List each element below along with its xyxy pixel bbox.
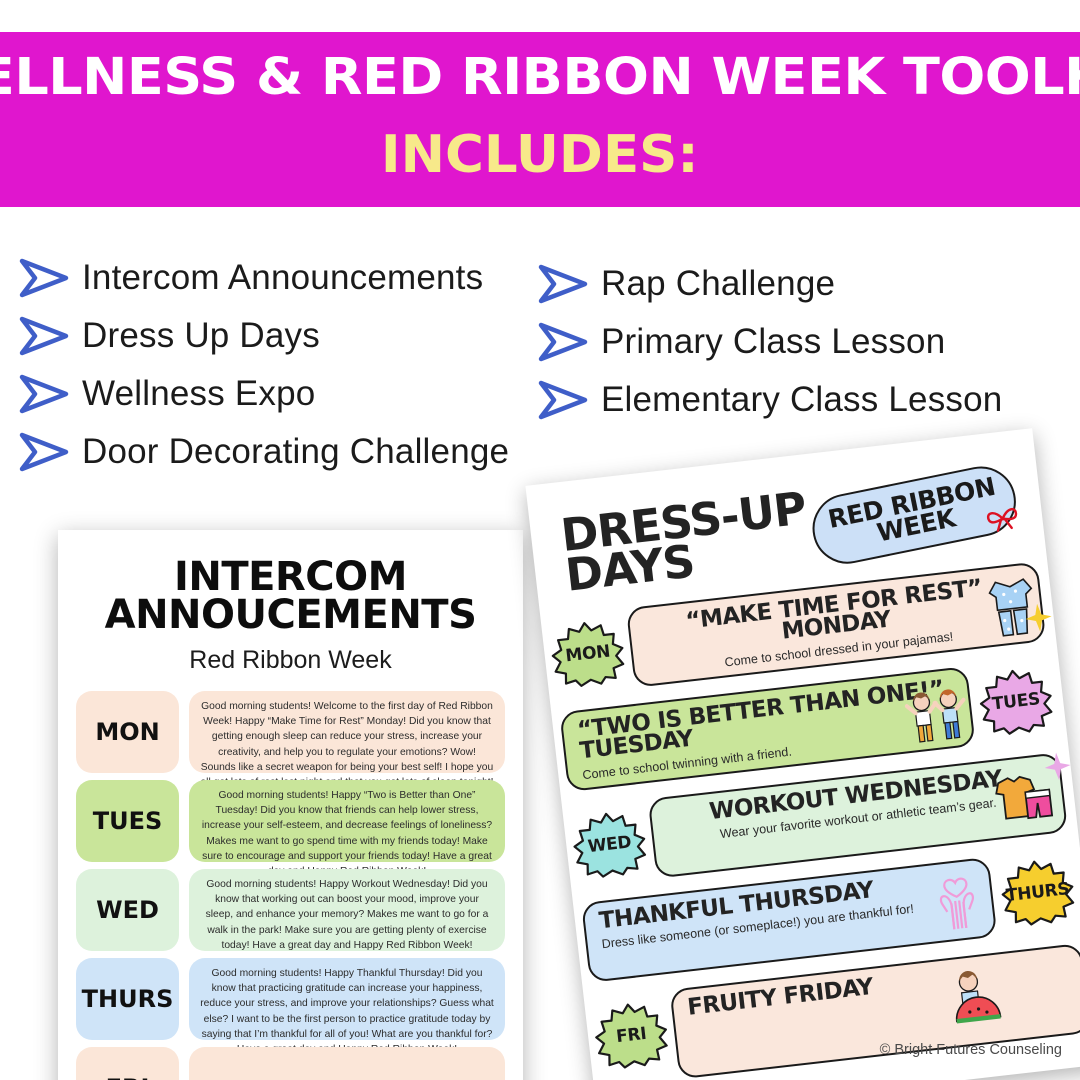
table-row: TUES Good morning students! Happy “Two i… <box>76 780 505 862</box>
red-ribbon-week-badge-label: RED RIBBON WEEK <box>827 475 1002 554</box>
day-label: TUES <box>76 780 179 862</box>
day-badge-tues: TUES <box>976 665 1057 739</box>
table-row: MON Good morning students! Welcome to th… <box>76 691 505 773</box>
list-item: Door Decorating Challenge <box>14 423 509 481</box>
list-item: Wellness Expo <box>14 365 509 423</box>
dressup-title: DRESS-UP DAYS <box>559 488 812 594</box>
list-item-label: Elementary Class Lesson <box>601 380 1002 420</box>
list-item-label: Door Decorating Challenge <box>82 432 509 472</box>
day-badge-wed: WED <box>569 808 650 882</box>
list-item-label: Rap Challenge <box>601 264 835 304</box>
intercom-announcements-sheet[interactable]: INTERCOM ANNOUCEMENTS Red Ribbon Week MO… <box>58 530 523 1080</box>
arrow-bullet-icon <box>14 430 74 474</box>
list-item: Rap Challenge <box>533 255 1002 313</box>
banner-subtitle: INCLUDES: <box>381 129 699 181</box>
dress-up-days-sheet[interactable]: DRESS-UP DAYS RED RIBBON WEEK <box>525 428 1080 1080</box>
list-item-label: Intercom Announcements <box>82 258 483 298</box>
table-row: WED Good morning students! Happy Workout… <box>76 869 505 951</box>
sheet-title-line1: INTERCOM <box>58 558 523 596</box>
day-label: MON <box>76 691 179 773</box>
arrow-bullet-icon <box>533 262 593 306</box>
list-item-label: Dress Up Days <box>82 316 320 356</box>
arrow-bullet-icon <box>14 372 74 416</box>
list-item: Elementary Class Lesson <box>533 371 1002 429</box>
announcement-text: Good morning students! Happy Workout Wed… <box>189 869 505 951</box>
announcement-text: Good morning students! Welcome to the fi… <box>189 691 505 773</box>
table-row: THURS Good morning students! Happy Thank… <box>76 958 505 1040</box>
red-ribbon-week-badge: RED RIBBON WEEK <box>807 460 1022 570</box>
poster-canvas: WELLNESS & RED RIBBON WEEK TOOLKIT INCLU… <box>0 0 1080 1080</box>
list-item-label: Primary Class Lesson <box>601 322 945 362</box>
day-badge-thurs: THURS <box>997 856 1078 930</box>
red-ribbon-bow-icon <box>983 502 1022 539</box>
arrow-bullet-icon <box>14 256 74 300</box>
day-label: WED <box>76 869 179 951</box>
list-item: Primary Class Lesson <box>533 313 1002 371</box>
day-label: THURS <box>76 958 179 1040</box>
list-item-label: Wellness Expo <box>82 374 315 414</box>
day-badge-label: FRI <box>615 1024 647 1047</box>
sparkle-icon <box>1024 602 1054 638</box>
day-badge-mon: MON <box>547 617 628 691</box>
includes-list-right-column: Rap Challenge Primary Class Lesson Eleme… <box>533 255 1002 429</box>
dressup-rows: MON “MAKE TIME FOR REST” MONDAY Come to … <box>540 555 1080 1080</box>
table-row: FRI <box>76 1047 505 1080</box>
arrow-bullet-icon <box>533 378 593 422</box>
includes-list-left-column: Intercom Announcements Dress Up Days Wel… <box>14 249 509 481</box>
praying-hands-heart-icon <box>926 872 989 939</box>
sparkle-icon <box>1043 751 1073 787</box>
arrow-bullet-icon <box>533 320 593 364</box>
sheet-title-line2: ANNOUCEMENTS <box>58 596 523 634</box>
copyright-text: © Bright Futures Counseling <box>880 1042 1062 1058</box>
announcement-rows: MON Good morning students! Welcome to th… <box>58 691 523 1080</box>
day-badge-fri: FRI <box>591 999 672 1073</box>
announcement-text: Good morning students! Happy “Two is Bet… <box>189 780 505 862</box>
day-label: FRI <box>76 1047 179 1080</box>
list-item: Intercom Announcements <box>14 249 509 307</box>
announcement-text <box>189 1047 505 1080</box>
sheet-title: INTERCOM ANNOUCEMENTS <box>58 558 523 634</box>
banner-title: WELLNESS & RED RIBBON WEEK TOOLKIT <box>0 52 1080 103</box>
two-friends-icon <box>903 687 971 751</box>
sheet-subtitle: Red Ribbon Week <box>58 646 523 675</box>
header-banner: WELLNESS & RED RIBBON WEEK TOOLKIT INCLU… <box>0 32 1080 207</box>
announcement-text: Good morning students! Happy Thankful Th… <box>189 958 505 1040</box>
arrow-bullet-icon <box>14 314 74 358</box>
watermelon-kid-icon <box>943 967 1003 1030</box>
list-item: Dress Up Days <box>14 307 509 365</box>
